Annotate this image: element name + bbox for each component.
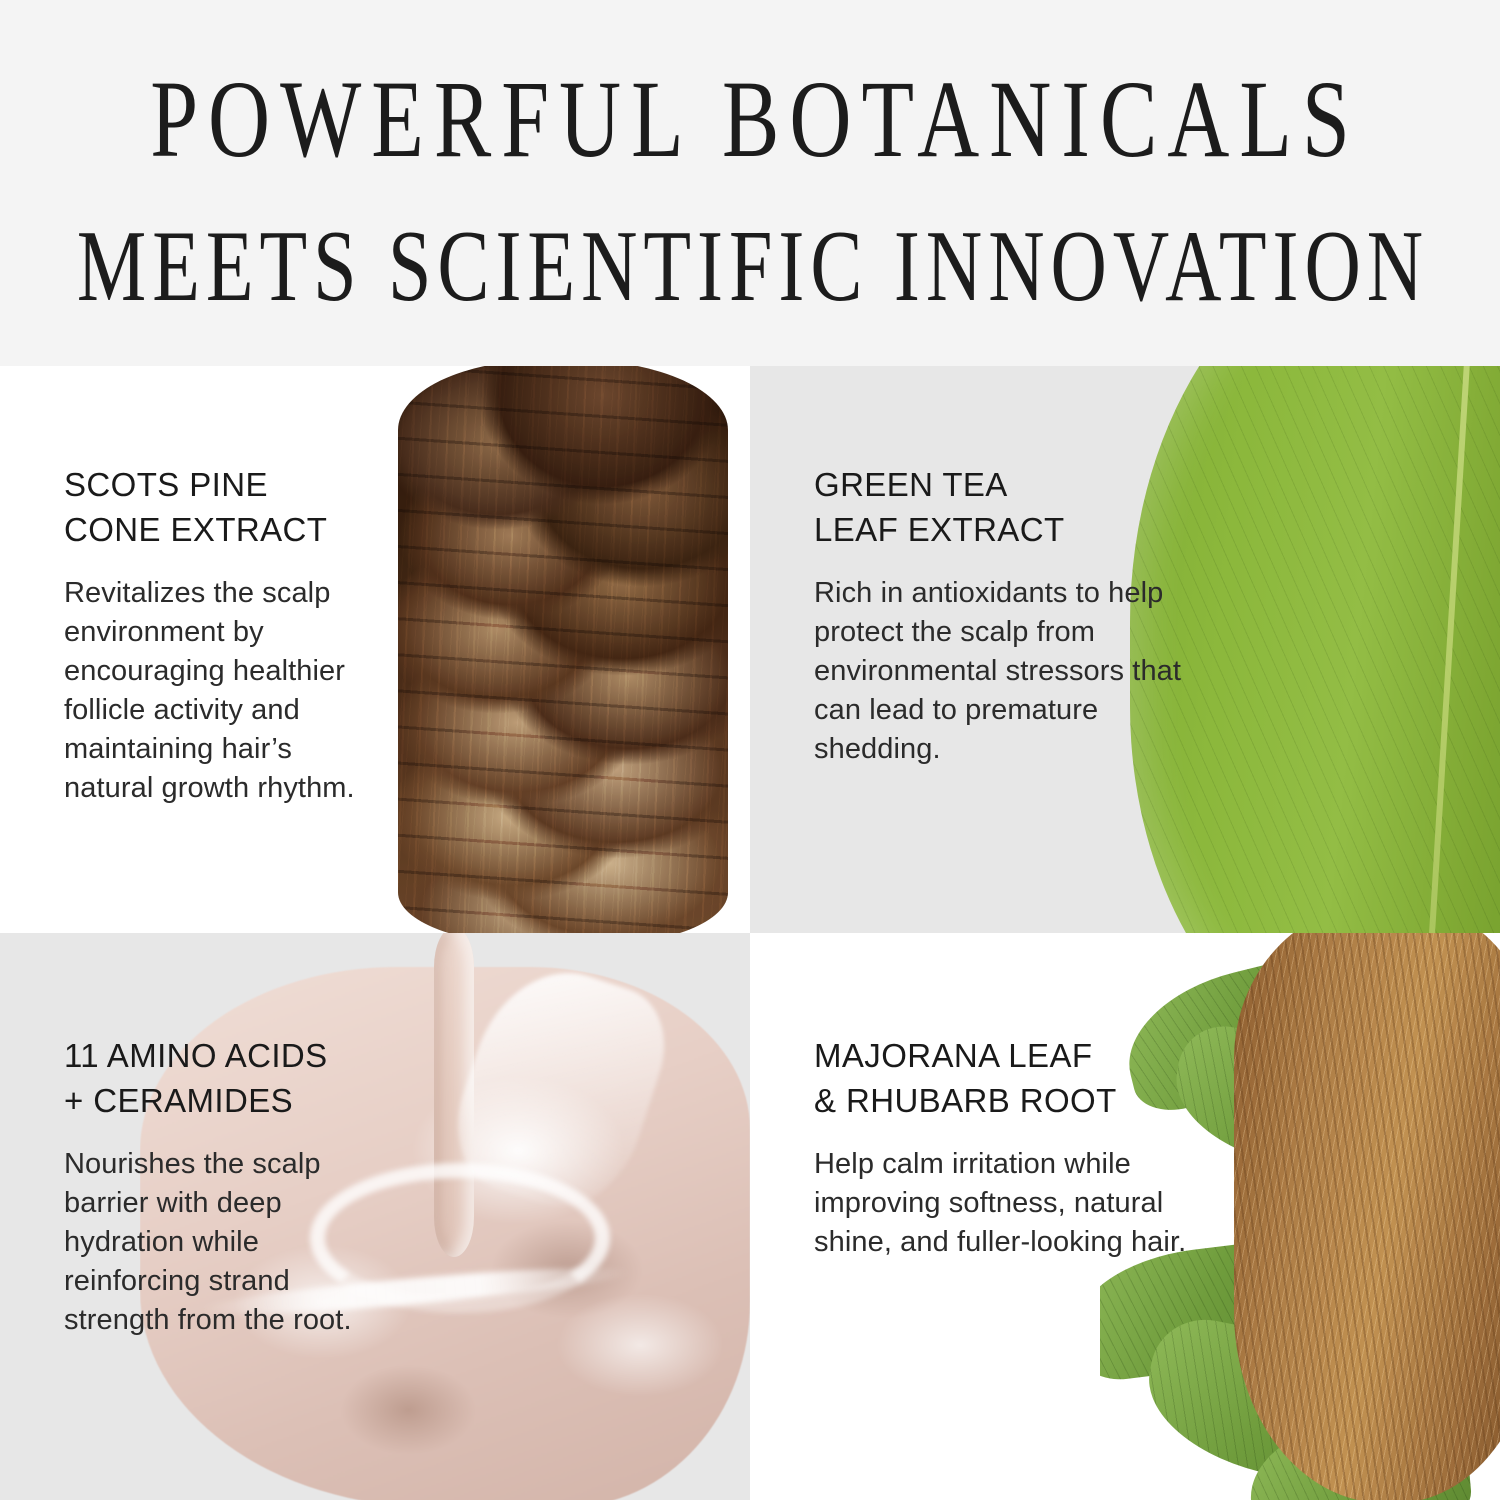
pine-cone-scale-texture [398, 366, 728, 933]
ingredient-panel-amino-acids: 11 AMINO ACIDS + CERAMIDES Nourishes the… [0, 933, 750, 1500]
ingredient-title-majorana-rhubarb: MAJORANA LEAF & RHUBARB ROOT [814, 1033, 1214, 1123]
ingredient-description-amino-acids: Nourishes the scalp barrier with deep hy… [64, 1145, 364, 1340]
pine-cone-photo [390, 366, 750, 933]
page-title-line-1: POWERFUL BOTANICALS [0, 55, 1500, 183]
ingredient-description-green-tea: Rich in antioxidants to help protect the… [814, 574, 1186, 769]
ingredient-grid: SCOTS PINE CONE EXTRACT Revitalizes the … [0, 366, 1500, 1500]
ingredient-copy-green-tea: GREEN TEA LEAF EXTRACT Rich in antioxida… [814, 462, 1186, 769]
ingredient-panel-majorana-rhubarb: MAJORANA LEAF & RHUBARB ROOT Help calm i… [750, 933, 1500, 1500]
page-title-line-2: MEETS SCIENTIFIC INNOVATION [0, 208, 1500, 325]
ingredient-copy-majorana-rhubarb: MAJORANA LEAF & RHUBARB ROOT Help calm i… [814, 1033, 1214, 1262]
ingredient-title-amino-acids: 11 AMINO ACIDS + CERAMIDES [64, 1033, 364, 1123]
ingredient-title-scots-pine: SCOTS PINE CONE EXTRACT [64, 462, 374, 552]
ingredient-panel-scots-pine: SCOTS PINE CONE EXTRACT Revitalizes the … [0, 366, 750, 933]
rhubarb-root-body [1234, 933, 1500, 1500]
header-banner: POWERFUL BOTANICALS MEETS SCIENTIFIC INN… [0, 0, 1500, 366]
ingredient-description-scots-pine: Revitalizes the scalp environment by enc… [64, 574, 374, 808]
ingredient-title-green-tea: GREEN TEA LEAF EXTRACT [814, 462, 1186, 552]
ingredient-description-majorana-rhubarb: Help calm irritation while improving sof… [814, 1145, 1214, 1262]
ingredient-panel-green-tea: GREEN TEA LEAF EXTRACT Rich in antioxida… [750, 366, 1500, 933]
ingredient-copy-scots-pine: SCOTS PINE CONE EXTRACT Revitalizes the … [64, 462, 374, 808]
ingredient-copy-amino-acids: 11 AMINO ACIDS + CERAMIDES Nourishes the… [64, 1033, 364, 1340]
